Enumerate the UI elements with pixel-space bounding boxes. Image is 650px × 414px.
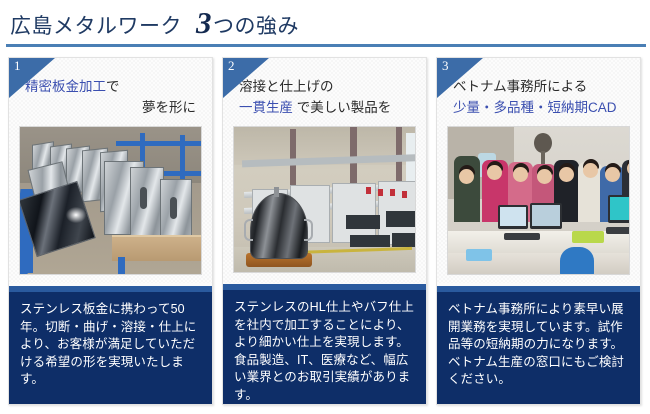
- photo-green-folder: [572, 231, 604, 243]
- photo-person-head: [513, 167, 528, 182]
- photo-indicator-light: [378, 189, 383, 196]
- page-title-suffix: つの強み: [213, 10, 299, 40]
- photo-vessel-nozzle: [274, 187, 279, 197]
- page-title-prefix: 広島メタルワーク: [10, 10, 182, 40]
- photo-rack-bar: [116, 141, 202, 146]
- card-title-highlight: 一貫生産: [239, 100, 293, 115]
- ribbon-number: 1: [14, 59, 21, 72]
- card-body-2: ステンレスのHL仕上やバフ仕上を社内で加工することにより、より細かい仕上を実現し…: [223, 284, 426, 404]
- photo-wooden-bench: [112, 235, 202, 261]
- card-title-plain: で美しい製品を: [297, 100, 392, 115]
- page-header: 広島メタルワーク 3 つの強み: [0, 0, 650, 47]
- photo-production-line: [234, 127, 415, 273]
- card-photo-1: [19, 126, 202, 275]
- ribbon-number: 3: [442, 59, 449, 72]
- strength-card-row: 1 精密板金加工で 夢を形に: [8, 57, 642, 405]
- photo-monitor-screen: [610, 197, 630, 220]
- photo-indicator-light: [366, 187, 371, 194]
- card-body-text: ベトナム事務所により素早い展開業務を実現しています。試作品等の短納期の力になりま…: [448, 301, 629, 389]
- photo-blue-box: [466, 249, 492, 261]
- strength-card-2[interactable]: 2 溶接と仕上げの 一貫生産 で美しい製品を: [222, 57, 427, 405]
- card-title-line-2: 夢を形に: [21, 97, 200, 118]
- photo-bench-leg: [118, 257, 125, 275]
- corner-ribbon-badge-2: 2: [223, 58, 269, 98]
- photo-machine-opening: [346, 215, 380, 229]
- card-body-3: ベトナム事務所により素早い展開業務を実現しています。試作品等の短納期の力になりま…: [437, 286, 640, 404]
- header-divider: [6, 44, 646, 47]
- card-body-text: ステンレス板金に携わって50年。切断・曲げ・溶接・仕上により、お客様が満足してい…: [20, 301, 201, 389]
- photo-keyboard: [504, 233, 540, 240]
- photo-part-slot: [140, 187, 147, 209]
- card-body-text: ステンレスのHL仕上やバフ仕上を社内で加工することにより、より細かい仕上を実現し…: [234, 299, 415, 404]
- photo-keyboard: [606, 227, 630, 234]
- photo-indicator-light: [402, 191, 407, 198]
- photo-person-head: [583, 163, 598, 178]
- card-title-plain: で: [106, 79, 120, 94]
- photo-part-slot: [170, 197, 177, 219]
- photo-person-head: [487, 165, 502, 180]
- photo-monitor-screen: [532, 205, 560, 226]
- ribbon-number: 2: [228, 59, 235, 72]
- photo-sheet-metal-parts: [20, 127, 201, 274]
- photo-person-head: [537, 169, 552, 184]
- card-photo-2: [233, 126, 416, 274]
- photo-office-staff-group: [448, 127, 629, 274]
- page-title-number: 3: [196, 7, 212, 38]
- corner-ribbon-badge-1: 1: [9, 58, 55, 98]
- photo-vessel-handle: [244, 219, 253, 241]
- photo-column: [290, 129, 296, 185]
- page-title: 広島メタルワーク 3 つの強み: [10, 7, 299, 40]
- card-title-line-2: 少量・多品種・短納期CAD: [449, 97, 628, 118]
- photo-vessel-handle: [304, 219, 313, 241]
- photo-monitor-screen: [500, 207, 526, 226]
- strength-card-3[interactable]: 3 ベトナム事務所による 少量・多品種・短納期CAD: [436, 57, 641, 405]
- photo-light-glint: [66, 207, 86, 223]
- card-title-line-2: 一貫生産 で美しい製品を: [235, 97, 414, 118]
- photo-person-head: [605, 167, 620, 182]
- photo-office-chair: [560, 247, 594, 275]
- photo-person-head: [459, 169, 474, 184]
- photo-wall-fan: [534, 133, 552, 153]
- corner-ribbon-badge-3: 3: [437, 58, 483, 98]
- card-body-1: ステンレス板金に携わって50年。切断・曲げ・溶接・仕上により、お客様が満足してい…: [9, 286, 212, 404]
- photo-person-head: [559, 167, 574, 182]
- card-photo-3: [447, 126, 630, 275]
- photo-machine-opening: [386, 211, 416, 227]
- strength-card-1[interactable]: 1 精密板金加工で 夢を形に: [8, 57, 213, 405]
- photo-indicator-light: [390, 189, 395, 196]
